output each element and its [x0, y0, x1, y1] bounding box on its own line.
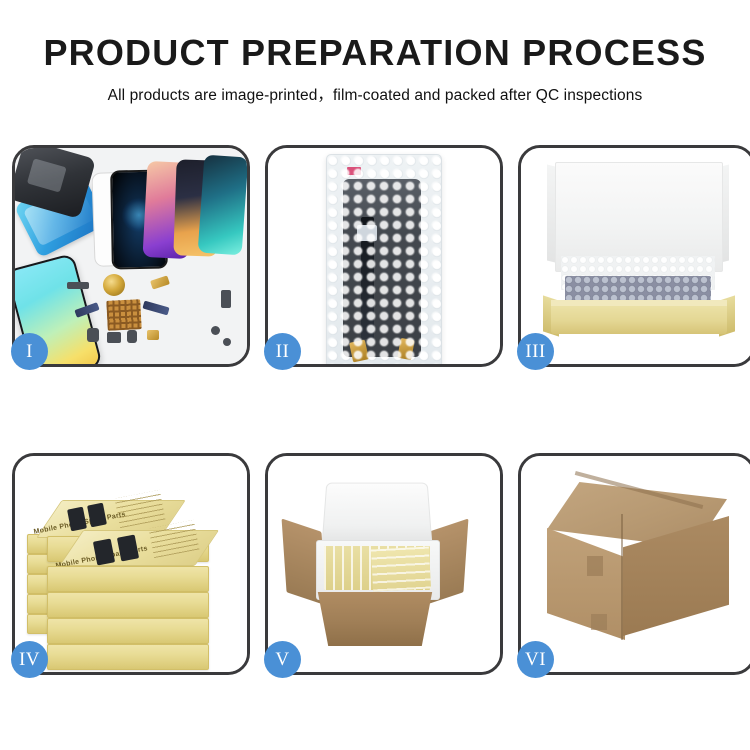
gold-contact-part	[150, 275, 170, 289]
step-panel-6: VI	[518, 453, 750, 675]
step-panel-5: V	[265, 453, 503, 675]
box-stack: Mobile Phone Spare Parts Mobile Phone Sp…	[19, 474, 245, 664]
stacked-box-front-2	[47, 566, 209, 592]
process-step-grid: I II III	[12, 145, 738, 675]
yellow-box-rim	[551, 300, 727, 306]
battery-connector-part	[67, 282, 89, 289]
step-panel-1: I	[12, 145, 250, 367]
step-5-image	[268, 456, 500, 672]
pink-qc-label	[347, 167, 361, 175]
step-panel-4: Mobile Phone Spare Parts Mobile Phone Sp…	[12, 453, 250, 675]
step-6-image	[521, 456, 750, 672]
step-panel-2: II	[265, 145, 503, 367]
foam-cooler-lid	[321, 483, 432, 547]
shipping-carton-body	[310, 592, 440, 646]
stacked-box-front-5	[47, 644, 209, 670]
teal-gradient-phone	[198, 155, 247, 256]
page-header: PRODUCT PREPARATION PROCESS All products…	[0, 0, 750, 105]
small-component-c	[127, 330, 137, 343]
small-component-d	[147, 330, 159, 340]
step-1-image	[15, 148, 247, 364]
yellow-box-base	[551, 304, 727, 334]
tool-part	[221, 290, 231, 308]
sealed-carton-left-face	[547, 528, 625, 640]
logic-board-chip	[106, 299, 142, 331]
step-badge-5: V	[264, 641, 301, 678]
stacked-box-front-4	[47, 618, 209, 644]
sealed-carton-tape-patch-lower	[591, 614, 607, 630]
page-title: PRODUCT PREPARATION PROCESS	[0, 34, 750, 72]
small-component-a	[87, 328, 99, 342]
step-panel-3: III	[518, 145, 750, 367]
sealed-carton-tape-patch-upper	[587, 556, 603, 576]
lcd-connector	[357, 225, 377, 241]
lcd-screen-inside-bag	[343, 179, 421, 357]
step-badge-1: I	[11, 333, 48, 370]
flex-cable-right	[142, 301, 169, 316]
step-badge-2: II	[264, 333, 301, 370]
screw-part-a	[211, 326, 220, 335]
page-subtitle: All products are image-printed，film-coat…	[0, 83, 750, 105]
screw-part-b	[223, 338, 231, 346]
step-badge-6: VI	[517, 641, 554, 678]
step-4-image: Mobile Phone Spare Parts Mobile Phone Sp…	[15, 456, 247, 672]
step-3-image	[521, 148, 750, 364]
stacked-box-front-3	[47, 592, 209, 618]
step-badge-3: III	[517, 333, 554, 370]
sealed-carton-corner-edge	[621, 514, 623, 640]
step-2-image	[268, 148, 500, 364]
step-badge-4: IV	[11, 641, 48, 678]
packed-yellow-boxes-stacked	[371, 547, 431, 592]
bubble-wrap-bag	[326, 154, 442, 364]
small-component-b	[107, 332, 121, 343]
wireless-charging-coil	[103, 274, 125, 296]
